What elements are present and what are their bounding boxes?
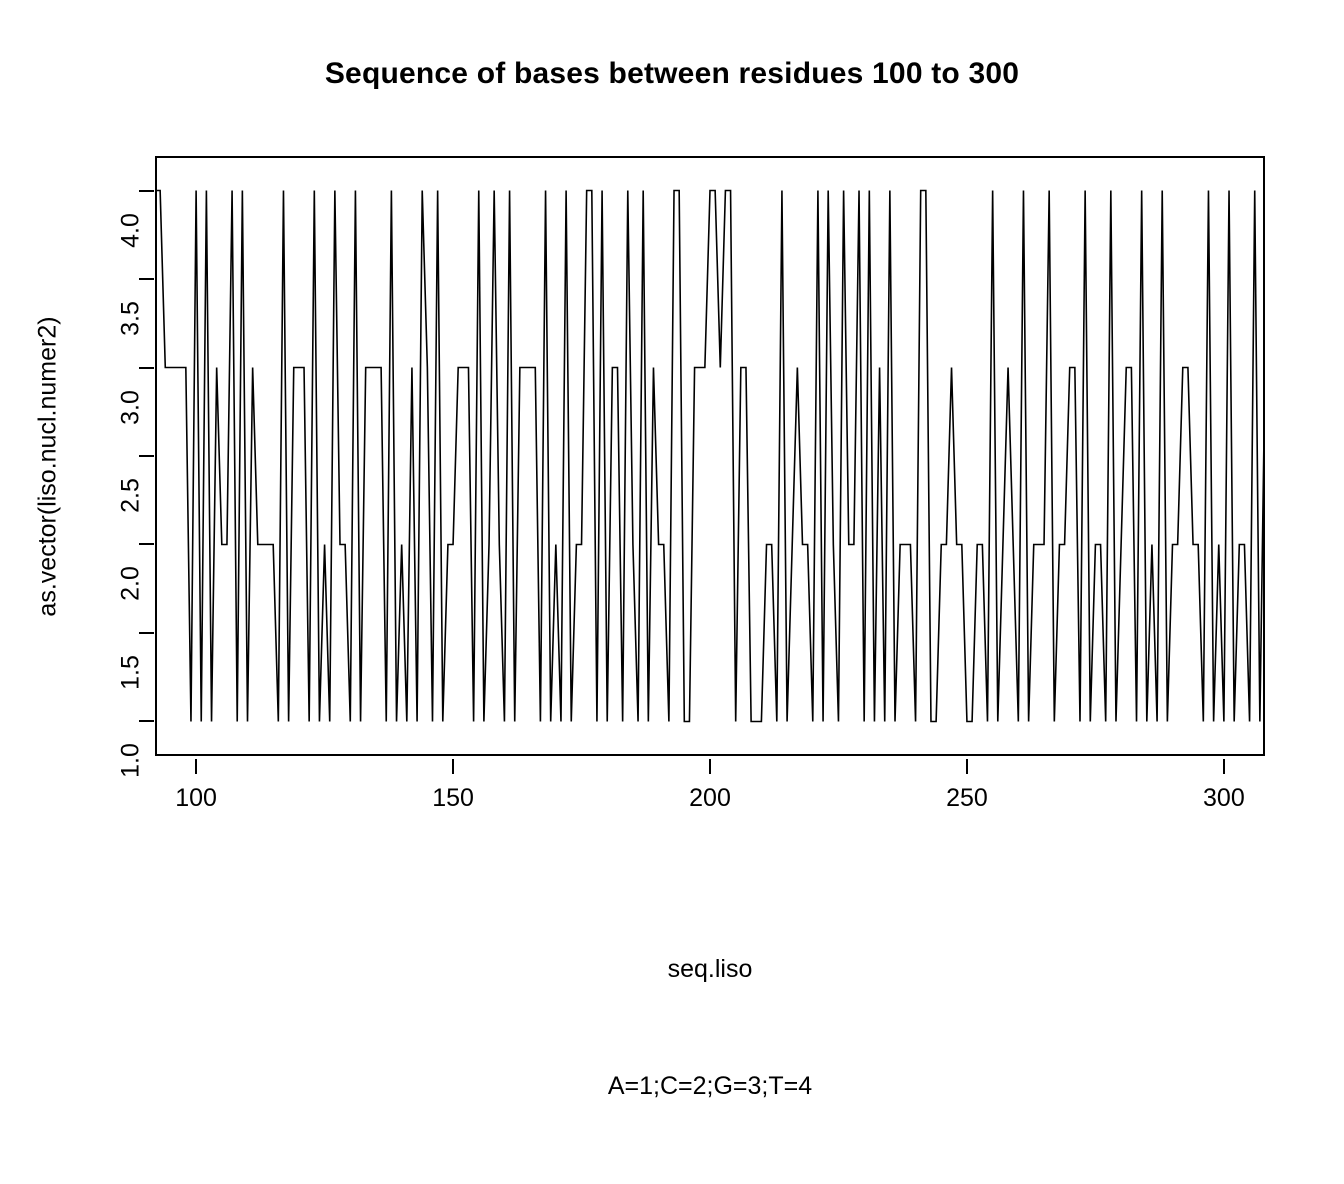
x-axis-title-line2: A=1;C=2;G=3;T=4 (155, 1067, 1265, 1106)
y-tick-label: 2.0 (117, 544, 146, 624)
x-tick-mark (709, 759, 711, 774)
x-tick-label: 300 (1179, 784, 1269, 813)
y-tick-label: 1.0 (117, 721, 146, 801)
y-tick-label: 3.0 (117, 367, 146, 447)
y-tick-label: 2.5 (117, 456, 146, 536)
x-axis-title-line1: seq.liso (155, 950, 1265, 989)
y-tick-label: 3.5 (117, 279, 146, 359)
x-tick-mark (195, 759, 197, 774)
plot-figure: Sequence of bases between residues 100 t… (0, 0, 1344, 960)
y-tick-label: 1.5 (117, 632, 146, 712)
x-tick-mark (452, 759, 454, 774)
x-tick-label: 150 (408, 784, 498, 813)
x-tick-mark (966, 759, 968, 774)
x-tick-label: 200 (665, 784, 755, 813)
x-axis: 100150200250300 (155, 758, 1265, 818)
y-tick-label: 4.0 (117, 190, 146, 270)
data-series-line (155, 156, 1265, 756)
x-tick-label: 100 (151, 784, 241, 813)
x-tick-mark (1223, 759, 1225, 774)
x-tick-label: 250 (922, 784, 1012, 813)
y-axis-title: as.vector(liso.nucl.numer2) (34, 157, 63, 777)
x-axis-title: seq.liso A=1;C=2;G=3;T=4 (155, 872, 1265, 1184)
page-title: Sequence of bases between residues 100 t… (0, 55, 1344, 93)
plot-area: 1.01.52.02.53.03.54.0 100150200250300 (155, 156, 1265, 756)
